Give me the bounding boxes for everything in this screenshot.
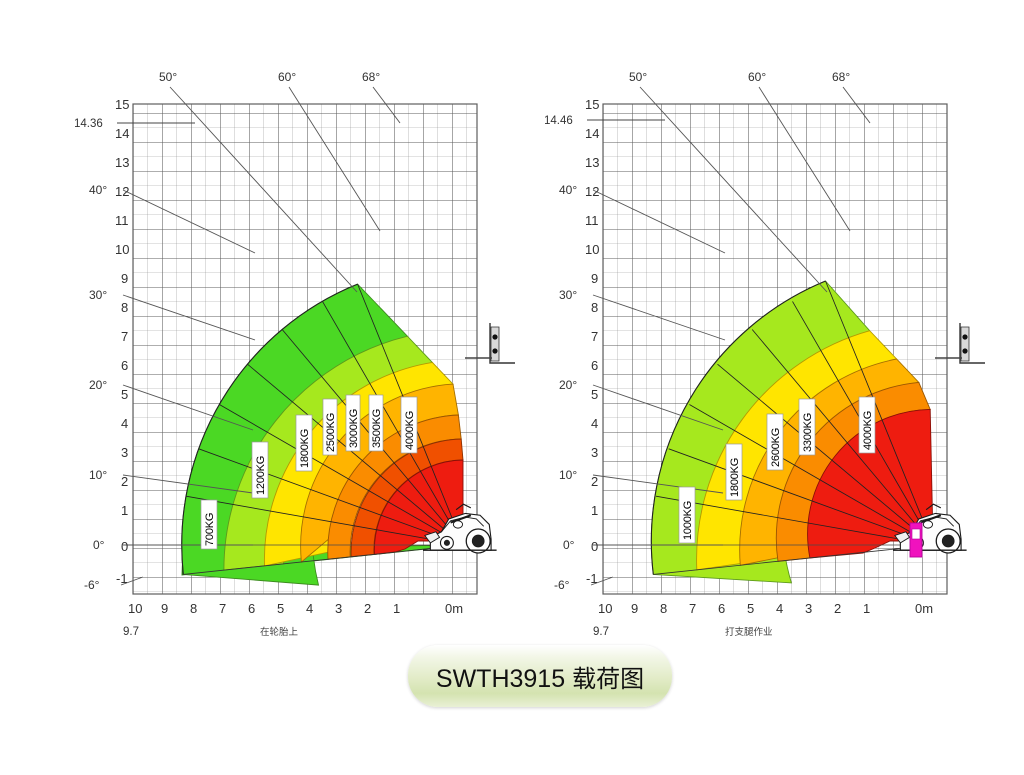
x-tick-3: 3 <box>335 601 342 616</box>
max-height-value: 14.46 <box>545 115 573 127</box>
x-tick-1: 1 <box>393 601 400 616</box>
band-label-2500kg: 2500KG <box>325 413 337 452</box>
y-tick-8: 8 <box>121 300 128 315</box>
y-tick-6: 6 <box>121 358 128 373</box>
y-tick-0: 0 <box>121 539 128 554</box>
load-chart-on-tires: 50° 60° 68° 40° 30° 20° 10° 0° -6° 14.36… <box>75 55 535 645</box>
y-tick-15: 15 <box>585 97 599 112</box>
y-tick-7: 7 <box>121 329 128 344</box>
x-tick-5: 5 <box>277 601 284 616</box>
x-tick-2: 2 <box>364 601 371 616</box>
caption-plaque: SWTH3915 载荷图 <box>408 645 672 707</box>
y-tick-12: 12 <box>115 184 129 199</box>
y-tick-3: 3 <box>591 445 598 460</box>
x-tick-0m: 0m <box>445 601 463 616</box>
x-tick-0m: 0m <box>915 601 933 616</box>
band-label-3000kg: 3000KG <box>348 409 360 448</box>
max-height-value: 14.36 <box>75 118 103 130</box>
x-tick-1: 1 <box>863 601 870 616</box>
x-tick-10: 10 <box>128 601 142 616</box>
x-tick-6: 6 <box>248 601 255 616</box>
x-tick-7: 7 <box>219 601 226 616</box>
y-tick-15: 15 <box>115 97 129 112</box>
y-tick-8: 8 <box>591 300 598 315</box>
angle-label-10: 10° <box>559 468 577 482</box>
angle-label-50: 50° <box>629 70 647 84</box>
angle-label-20: 20° <box>559 378 577 392</box>
y-tick-9: 9 <box>121 271 128 286</box>
y-tick-2: 2 <box>121 474 128 489</box>
x-axis-labels: 10 9 8 7 6 5 4 3 2 1 0m <box>128 601 463 616</box>
y-tick-14: 14 <box>585 126 599 141</box>
y-tick-14: 14 <box>115 126 129 141</box>
angle-label-68: 68° <box>362 70 380 84</box>
angle-label-minus6: -6° <box>84 578 100 592</box>
x-tick-4: 4 <box>776 601 783 616</box>
angle-label-30: 30° <box>89 288 107 302</box>
y-tick-5: 5 <box>591 387 598 402</box>
x-tick-2: 2 <box>834 601 841 616</box>
x-tick-6: 6 <box>718 601 725 616</box>
y-tick-neg1: -1 <box>116 571 128 586</box>
x-tick-9: 9 <box>161 601 168 616</box>
y-tick-0: 0 <box>591 539 598 554</box>
band-label-3500kg: 3500KG <box>371 409 383 448</box>
x-tick-9: 9 <box>631 601 638 616</box>
caption-text: SWTH3915 载荷图 <box>436 659 644 694</box>
band-label-1800kg: 1800KG <box>299 429 311 468</box>
y-tick-13: 13 <box>115 155 129 170</box>
caption-model: SWTH3915 <box>436 665 565 693</box>
y-tick-1: 1 <box>591 503 598 518</box>
x-tick-4: 4 <box>306 601 313 616</box>
angle-label-minus6: -6° <box>554 578 570 592</box>
y-tick-11: 11 <box>115 213 129 228</box>
chart-left-svg: 50° 60° 68° 40° 30° 20° 10° 0° -6° 14.36… <box>75 55 535 645</box>
y-tick-neg1: -1 <box>586 571 598 586</box>
y-tick-11: 11 <box>585 213 599 228</box>
y-tick-9: 9 <box>591 271 598 286</box>
max-radius-value: 9.7 <box>593 626 609 638</box>
y-tick-6: 6 <box>591 358 598 373</box>
x-tick-5: 5 <box>747 601 754 616</box>
angle-label-0: 0° <box>93 538 105 552</box>
y-tick-4: 4 <box>121 416 128 431</box>
x-axis-labels: 10 9 8 7 6 5 4 3 2 1 0m <box>598 601 933 616</box>
x-tick-10: 10 <box>598 601 612 616</box>
y-tick-10: 10 <box>115 242 129 257</box>
chart-subtitle-on-outriggers: 打支腿作业 <box>725 626 773 638</box>
y-tick-7: 7 <box>591 329 598 344</box>
y-tick-12: 12 <box>585 184 599 199</box>
outrigger-icon <box>910 523 922 557</box>
max-radius-value: 9.7 <box>123 626 139 638</box>
band-label-1800kg: 1800KG <box>729 458 741 497</box>
angle-label-60: 60° <box>278 70 296 84</box>
band-label-1200kg: 1200KG <box>255 456 267 495</box>
y-tick-2: 2 <box>591 474 598 489</box>
y-tick-13: 13 <box>585 155 599 170</box>
band-label-4000kg: 4000KG <box>404 411 416 450</box>
x-tick-8: 8 <box>190 601 197 616</box>
band-label-4000kg: 4000KG <box>862 411 874 450</box>
load-chart-on-outriggers: 50° 60° 68° 40° 30° 20° 10° 0° -6° 14.46… <box>545 55 1005 645</box>
band-label-1000kg: 1000KG <box>682 501 694 540</box>
y-tick-10: 10 <box>585 242 599 257</box>
angle-label-40: 40° <box>89 183 107 197</box>
y-axis-labels: 15 14 13 12 11 10 9 8 7 6 5 4 3 2 1 0 -1 <box>115 97 129 586</box>
y-axis-labels: 15 14 13 12 11 10 9 8 7 6 5 4 3 2 1 0 -1 <box>585 97 599 586</box>
angle-label-20: 20° <box>89 378 107 392</box>
caption-title-cn: 载荷图 <box>572 665 644 693</box>
angle-label-68: 68° <box>832 70 850 84</box>
chart-right-svg: 50° 60° 68° 40° 30° 20° 10° 0° -6° 14.46… <box>545 55 1005 645</box>
x-tick-7: 7 <box>689 601 696 616</box>
chart-subtitle-on-tires: 在轮胎上 <box>260 626 299 638</box>
angle-label-50: 50° <box>159 70 177 84</box>
band-label-2600kg: 2600KG <box>770 428 782 467</box>
y-tick-4: 4 <box>591 416 598 431</box>
y-tick-1: 1 <box>121 503 128 518</box>
angle-label-10: 10° <box>89 468 107 482</box>
x-tick-3: 3 <box>805 601 812 616</box>
angle-label-60: 60° <box>748 70 766 84</box>
angle-label-40: 40° <box>559 183 577 197</box>
angle-label-0: 0° <box>563 538 575 552</box>
y-tick-5: 5 <box>121 387 128 402</box>
angle-label-30: 30° <box>559 288 577 302</box>
band-label-700kg: 700KG <box>204 513 216 546</box>
x-tick-8: 8 <box>660 601 667 616</box>
y-tick-3: 3 <box>121 445 128 460</box>
page-root: 50° 60° 68° 40° 30° 20° 10° 0° -6° 14.36… <box>0 0 1024 775</box>
band-label-3300kg: 3300KG <box>802 413 814 452</box>
